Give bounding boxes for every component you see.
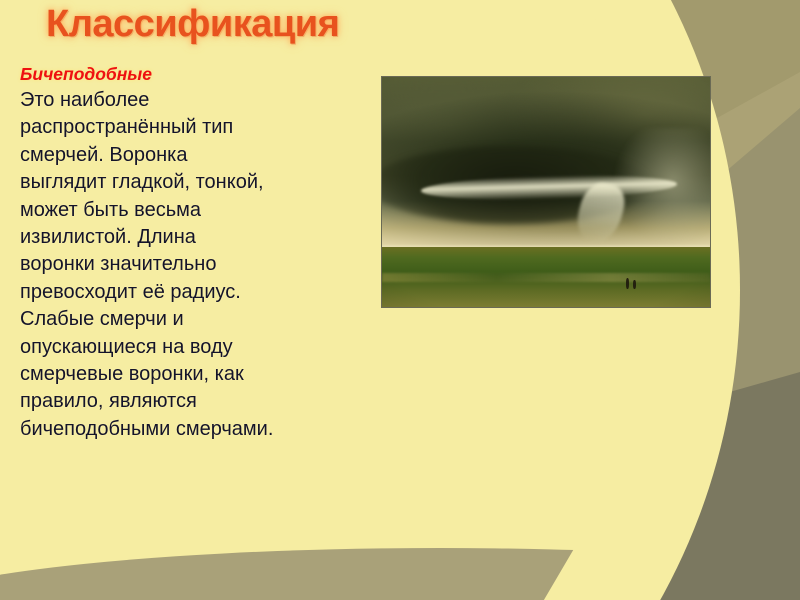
photo-canvas xyxy=(382,77,710,307)
photo-vignette xyxy=(382,77,710,307)
body-line: бичеподобными смерчами. xyxy=(20,416,372,443)
body-line: извилистой. Длина xyxy=(20,224,372,251)
body-line: распространённый тип xyxy=(20,114,372,141)
presentation-slide: Классификация Бичеподобные Это наиболее … xyxy=(0,0,800,600)
body-line: смерчей. Воронка xyxy=(20,142,372,169)
body-line: смерчевые воронки, как xyxy=(20,361,372,388)
body-line: правило, являются xyxy=(20,388,372,415)
body-line: может быть весьма xyxy=(20,197,372,224)
text-content-block: Бичеподобные Это наиболее распространённ… xyxy=(20,62,372,443)
body-line: Слабые смерчи и xyxy=(20,306,372,333)
subheading: Бичеподобные xyxy=(20,62,372,86)
background-bottom-curve xyxy=(0,548,800,600)
body-line: воронки значительно xyxy=(20,251,372,278)
tornado-photograph xyxy=(381,76,711,308)
body-line: превосходит её радиус. xyxy=(20,279,372,306)
body-line: Это наиболее xyxy=(20,87,372,114)
page-title: Классификация xyxy=(46,3,339,46)
body-line: опускающиеся на воду xyxy=(20,334,372,361)
body-line: выглядит гладкой, тонкой, xyxy=(20,169,372,196)
